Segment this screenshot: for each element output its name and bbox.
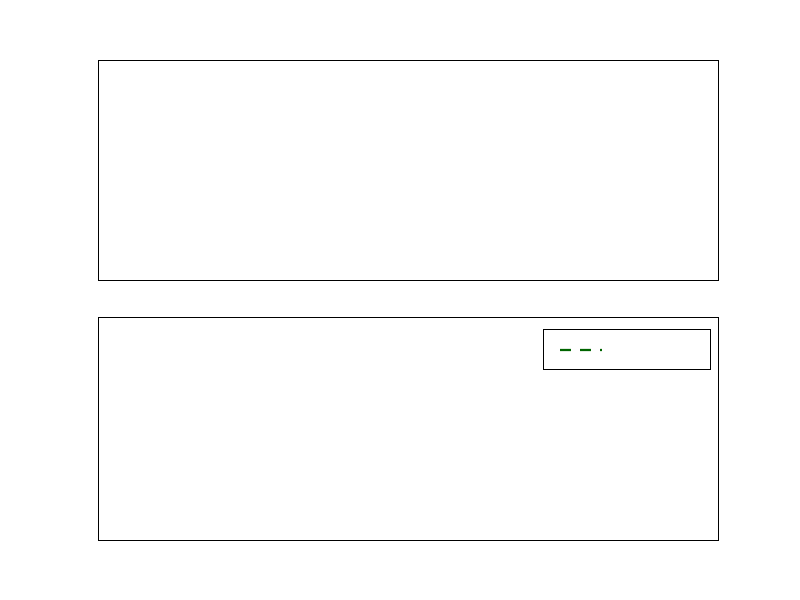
legend (543, 329, 711, 370)
legend-dashed-line-icon (558, 344, 604, 356)
figure-canvas (0, 0, 800, 600)
top-panel-axes (98, 60, 719, 281)
differential-histogram-plot (99, 61, 718, 280)
